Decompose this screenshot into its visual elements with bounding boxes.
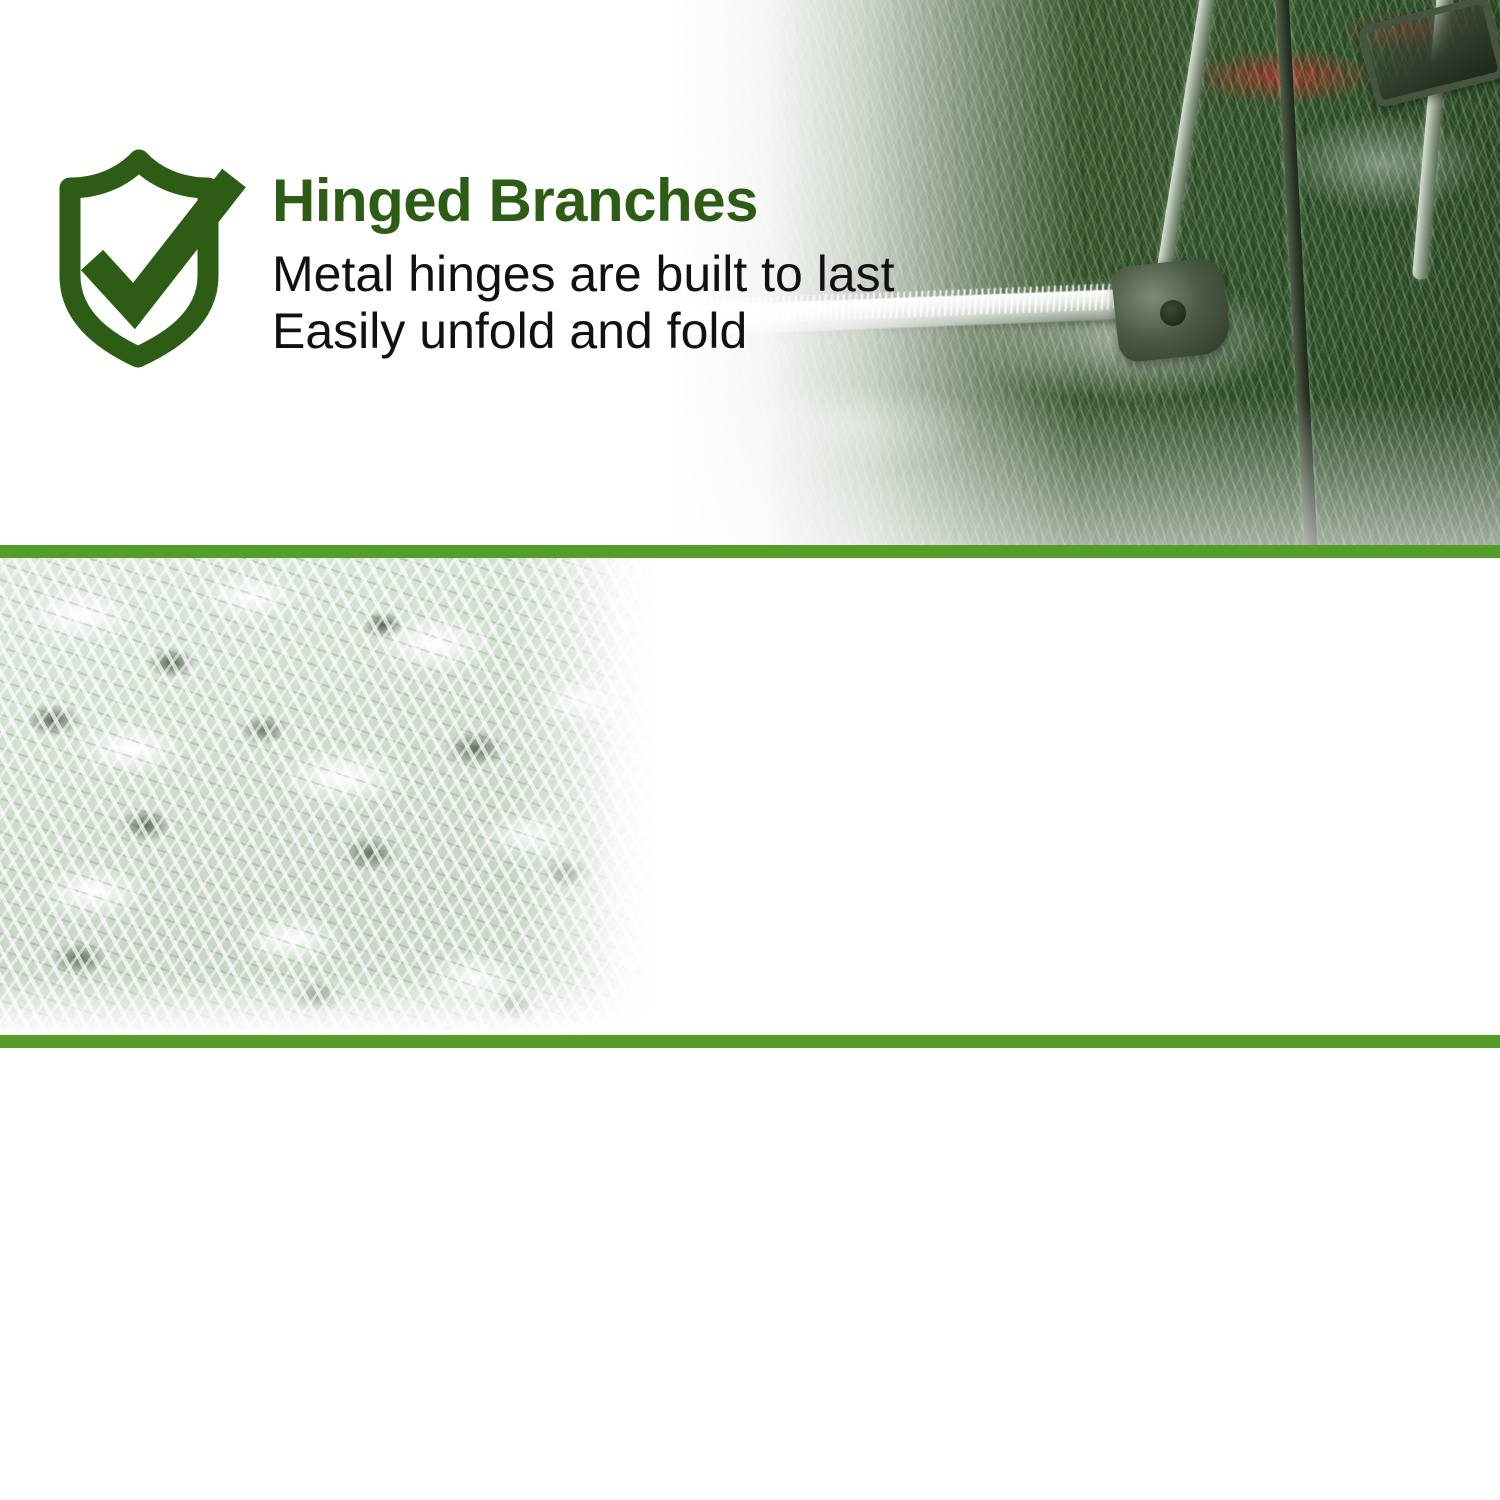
panel-hinged-branches: Hinged Branches Metal hinges are built t…	[0, 0, 1500, 545]
hinge-pivot-hole	[1160, 300, 1186, 326]
panel-sturdy-metal-base: Sturdy Metal Base Metal stand can suppor…	[0, 1048, 1500, 1500]
photo-bottom-fade	[0, 975, 660, 1035]
photo-right-fade	[510, 558, 660, 1035]
shield-check-icon	[58, 148, 248, 363]
flocked-tree-closeup-photo	[0, 558, 660, 1035]
divider-bar-top	[0, 545, 1500, 558]
product-feature-infographic: Hinged Branches Metal hinges are built t…	[0, 0, 1500, 1500]
divider-bar-bottom	[0, 1035, 1500, 1048]
panel-heading-hinged-branches: Hinged Branches	[272, 170, 758, 231]
panel-body-hinged-branches: Metal hinges are built to last Easily un…	[272, 246, 895, 360]
panel-environmental-safe-material: Environmental Safe Material Non-flammabl…	[0, 558, 1500, 1035]
